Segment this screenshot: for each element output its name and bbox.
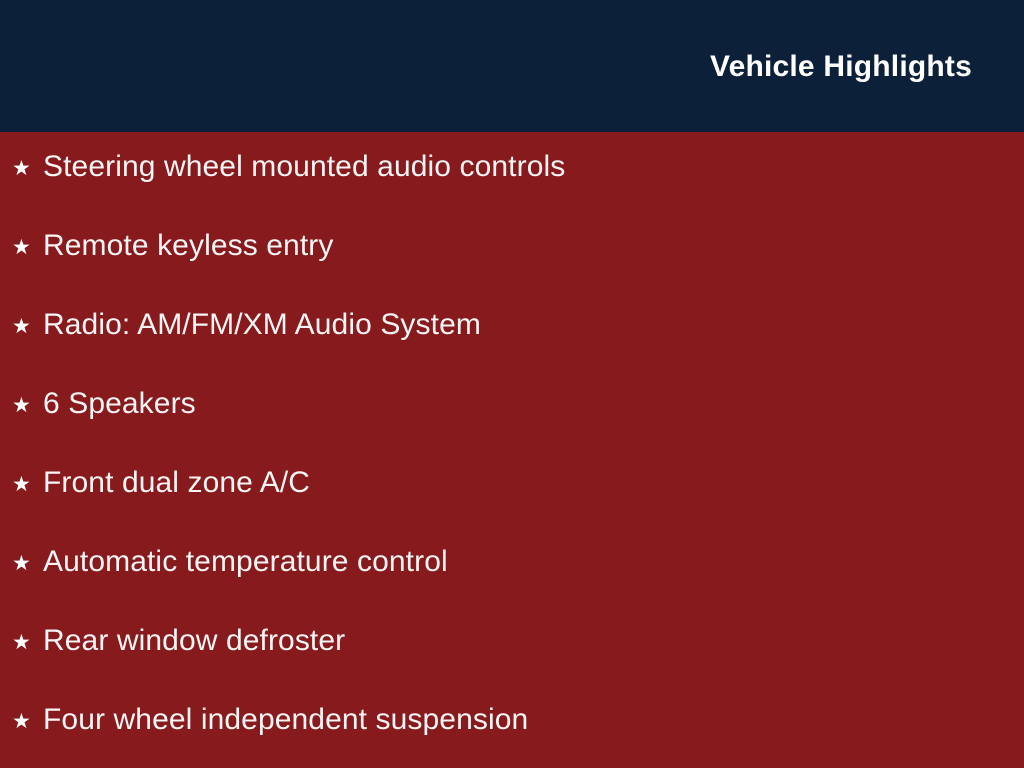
list-item-label: Radio: AM/FM/XM Audio System — [43, 310, 481, 340]
list-item: ★ Front dual zone A/C — [0, 468, 1024, 547]
star-icon: ★ — [12, 237, 43, 258]
list-item-label: Four wheel independent suspension — [43, 705, 528, 735]
list-item: ★ Four wheel independent suspension — [0, 705, 1024, 768]
star-icon: ★ — [12, 711, 43, 732]
slide-body: ★ Steering wheel mounted audio controls … — [0, 132, 1024, 768]
star-icon: ★ — [12, 474, 43, 495]
list-item-label: Automatic temperature control — [43, 547, 448, 577]
page-title: Vehicle Highlights — [710, 52, 972, 82]
star-icon: ★ — [12, 632, 43, 653]
slide: Vehicle Highlights ★ Steering wheel moun… — [0, 0, 1024, 768]
list-item: ★ 6 Speakers — [0, 389, 1024, 468]
star-icon: ★ — [12, 158, 43, 179]
list-item-label: Steering wheel mounted audio controls — [43, 152, 565, 182]
list-item: ★ Radio: AM/FM/XM Audio System — [0, 310, 1024, 389]
list-item: ★ Remote keyless entry — [0, 231, 1024, 310]
slide-header: Vehicle Highlights — [0, 0, 1024, 132]
list-item-label: Remote keyless entry — [43, 231, 333, 261]
list-item: ★ Automatic temperature control — [0, 547, 1024, 626]
vehicle-highlights-list: ★ Steering wheel mounted audio controls … — [0, 152, 1024, 768]
list-item: ★ Rear window defroster — [0, 626, 1024, 705]
star-icon: ★ — [12, 316, 43, 337]
list-item-label: 6 Speakers — [43, 389, 196, 419]
list-item-label: Rear window defroster — [43, 626, 345, 656]
star-icon: ★ — [12, 395, 43, 416]
list-item-label: Front dual zone A/C — [43, 468, 310, 498]
star-icon: ★ — [12, 553, 43, 574]
list-item: ★ Steering wheel mounted audio controls — [0, 152, 1024, 231]
